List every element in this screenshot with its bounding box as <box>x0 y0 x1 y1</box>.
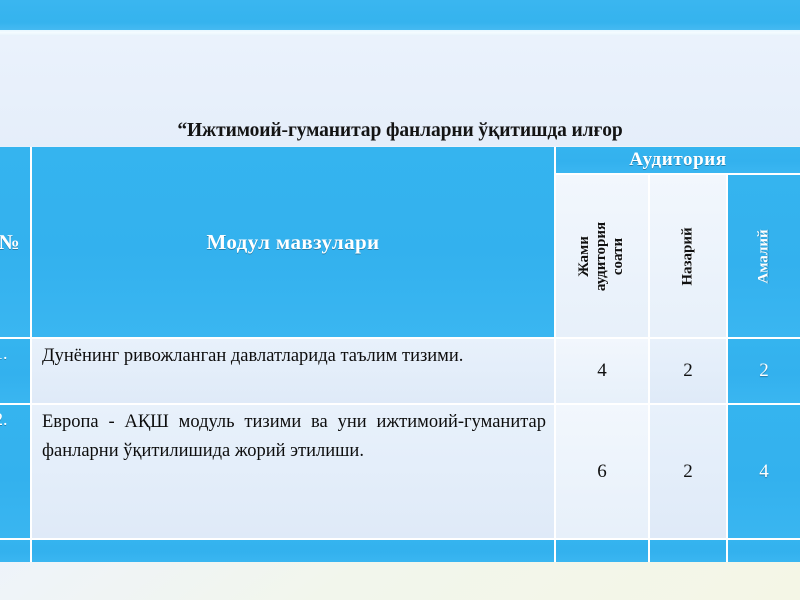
table-row: 1. <box>0 337 32 403</box>
header-total-line-2: аудитория <box>593 221 609 290</box>
header-topic-label: Модул мавзулари <box>32 147 554 337</box>
row-1-practice: 2 <box>728 339 800 403</box>
header-number-label: № <box>0 147 30 337</box>
row-1-total-cell: 4 <box>556 337 650 403</box>
row-1-theory: 2 <box>650 339 726 403</box>
row-3-total <box>556 540 648 562</box>
row-1-topic-cell: Дунёнинг ривожланган давлатларида таълим… <box>32 337 556 403</box>
row-2-theory: 2 <box>650 405 726 538</box>
header-cell-group-auditoria: Аудитория <box>556 147 800 175</box>
header-group-label: Аудитория <box>556 147 800 173</box>
row-3-total-cell <box>556 538 650 562</box>
header-theory-text: Назарий <box>679 227 696 285</box>
row-3-theory <box>650 540 726 562</box>
row-2-practice: 4 <box>728 405 800 538</box>
table-row <box>0 538 32 562</box>
row-2-number: 2. <box>0 405 30 430</box>
header-theory-rotated: Назарий <box>650 175 726 337</box>
slide-canvas: “Ижтимоий-гуманитар фанларни ўқитишда ил… <box>0 0 800 600</box>
hours-distribution-table: № Модул мавзулари Аудитория Жами аудитор… <box>0 147 800 562</box>
row-1-number: 1. <box>0 339 30 364</box>
header-total-line-1: Жами <box>576 236 592 277</box>
row-2-topic: Европа - АҚШ модуль тизими ва уни ижтимо… <box>32 405 554 466</box>
header-cell-topic: Модул мавзулари <box>32 147 556 337</box>
row-2-total: 6 <box>556 405 648 538</box>
header-total-line-3: соати <box>610 237 626 274</box>
header-practice-rotated: Амалий <box>728 175 800 337</box>
row-1-topic: Дунёнинг ривожланган давлатларида таълим… <box>32 339 554 371</box>
row-3-theory-cell <box>650 538 728 562</box>
row-3-topic-cell <box>32 538 556 562</box>
row-2-total-cell: 6 <box>556 403 650 538</box>
row-1-total: 4 <box>556 339 648 403</box>
table-row: 2. <box>0 403 32 538</box>
row-2-theory-cell: 2 <box>650 403 728 538</box>
title-area: “Ижтимоий-гуманитар фанларни ўқитишда ил… <box>0 36 800 146</box>
header-cell-practice: Амалий <box>728 175 800 337</box>
header-cell-total-hours: Жами аудитория соати <box>556 175 650 337</box>
row-3-topic <box>32 540 554 543</box>
header-practice-text: Амалий <box>756 229 773 283</box>
top-decorative-band <box>0 0 800 32</box>
row-3-practice <box>728 540 800 562</box>
header-total-hours-rotated: Жами аудитория соати <box>556 175 648 337</box>
header-total-hours-text: Жами аудитория соати <box>576 221 627 290</box>
row-1-theory-cell: 2 <box>650 337 728 403</box>
row-3-number <box>0 540 30 544</box>
row-3-practice-cell <box>728 538 800 562</box>
row-2-topic-cell: Европа - АҚШ модуль тизими ва уни ижтимо… <box>32 403 556 538</box>
title-line-1: “Ижтимоий-гуманитар фанларни ўқитишда ил… <box>177 120 622 141</box>
header-cell-number: № <box>0 147 32 337</box>
row-2-practice-cell: 4 <box>728 403 800 538</box>
row-1-practice-cell: 2 <box>728 337 800 403</box>
header-cell-theory: Назарий <box>650 175 728 337</box>
